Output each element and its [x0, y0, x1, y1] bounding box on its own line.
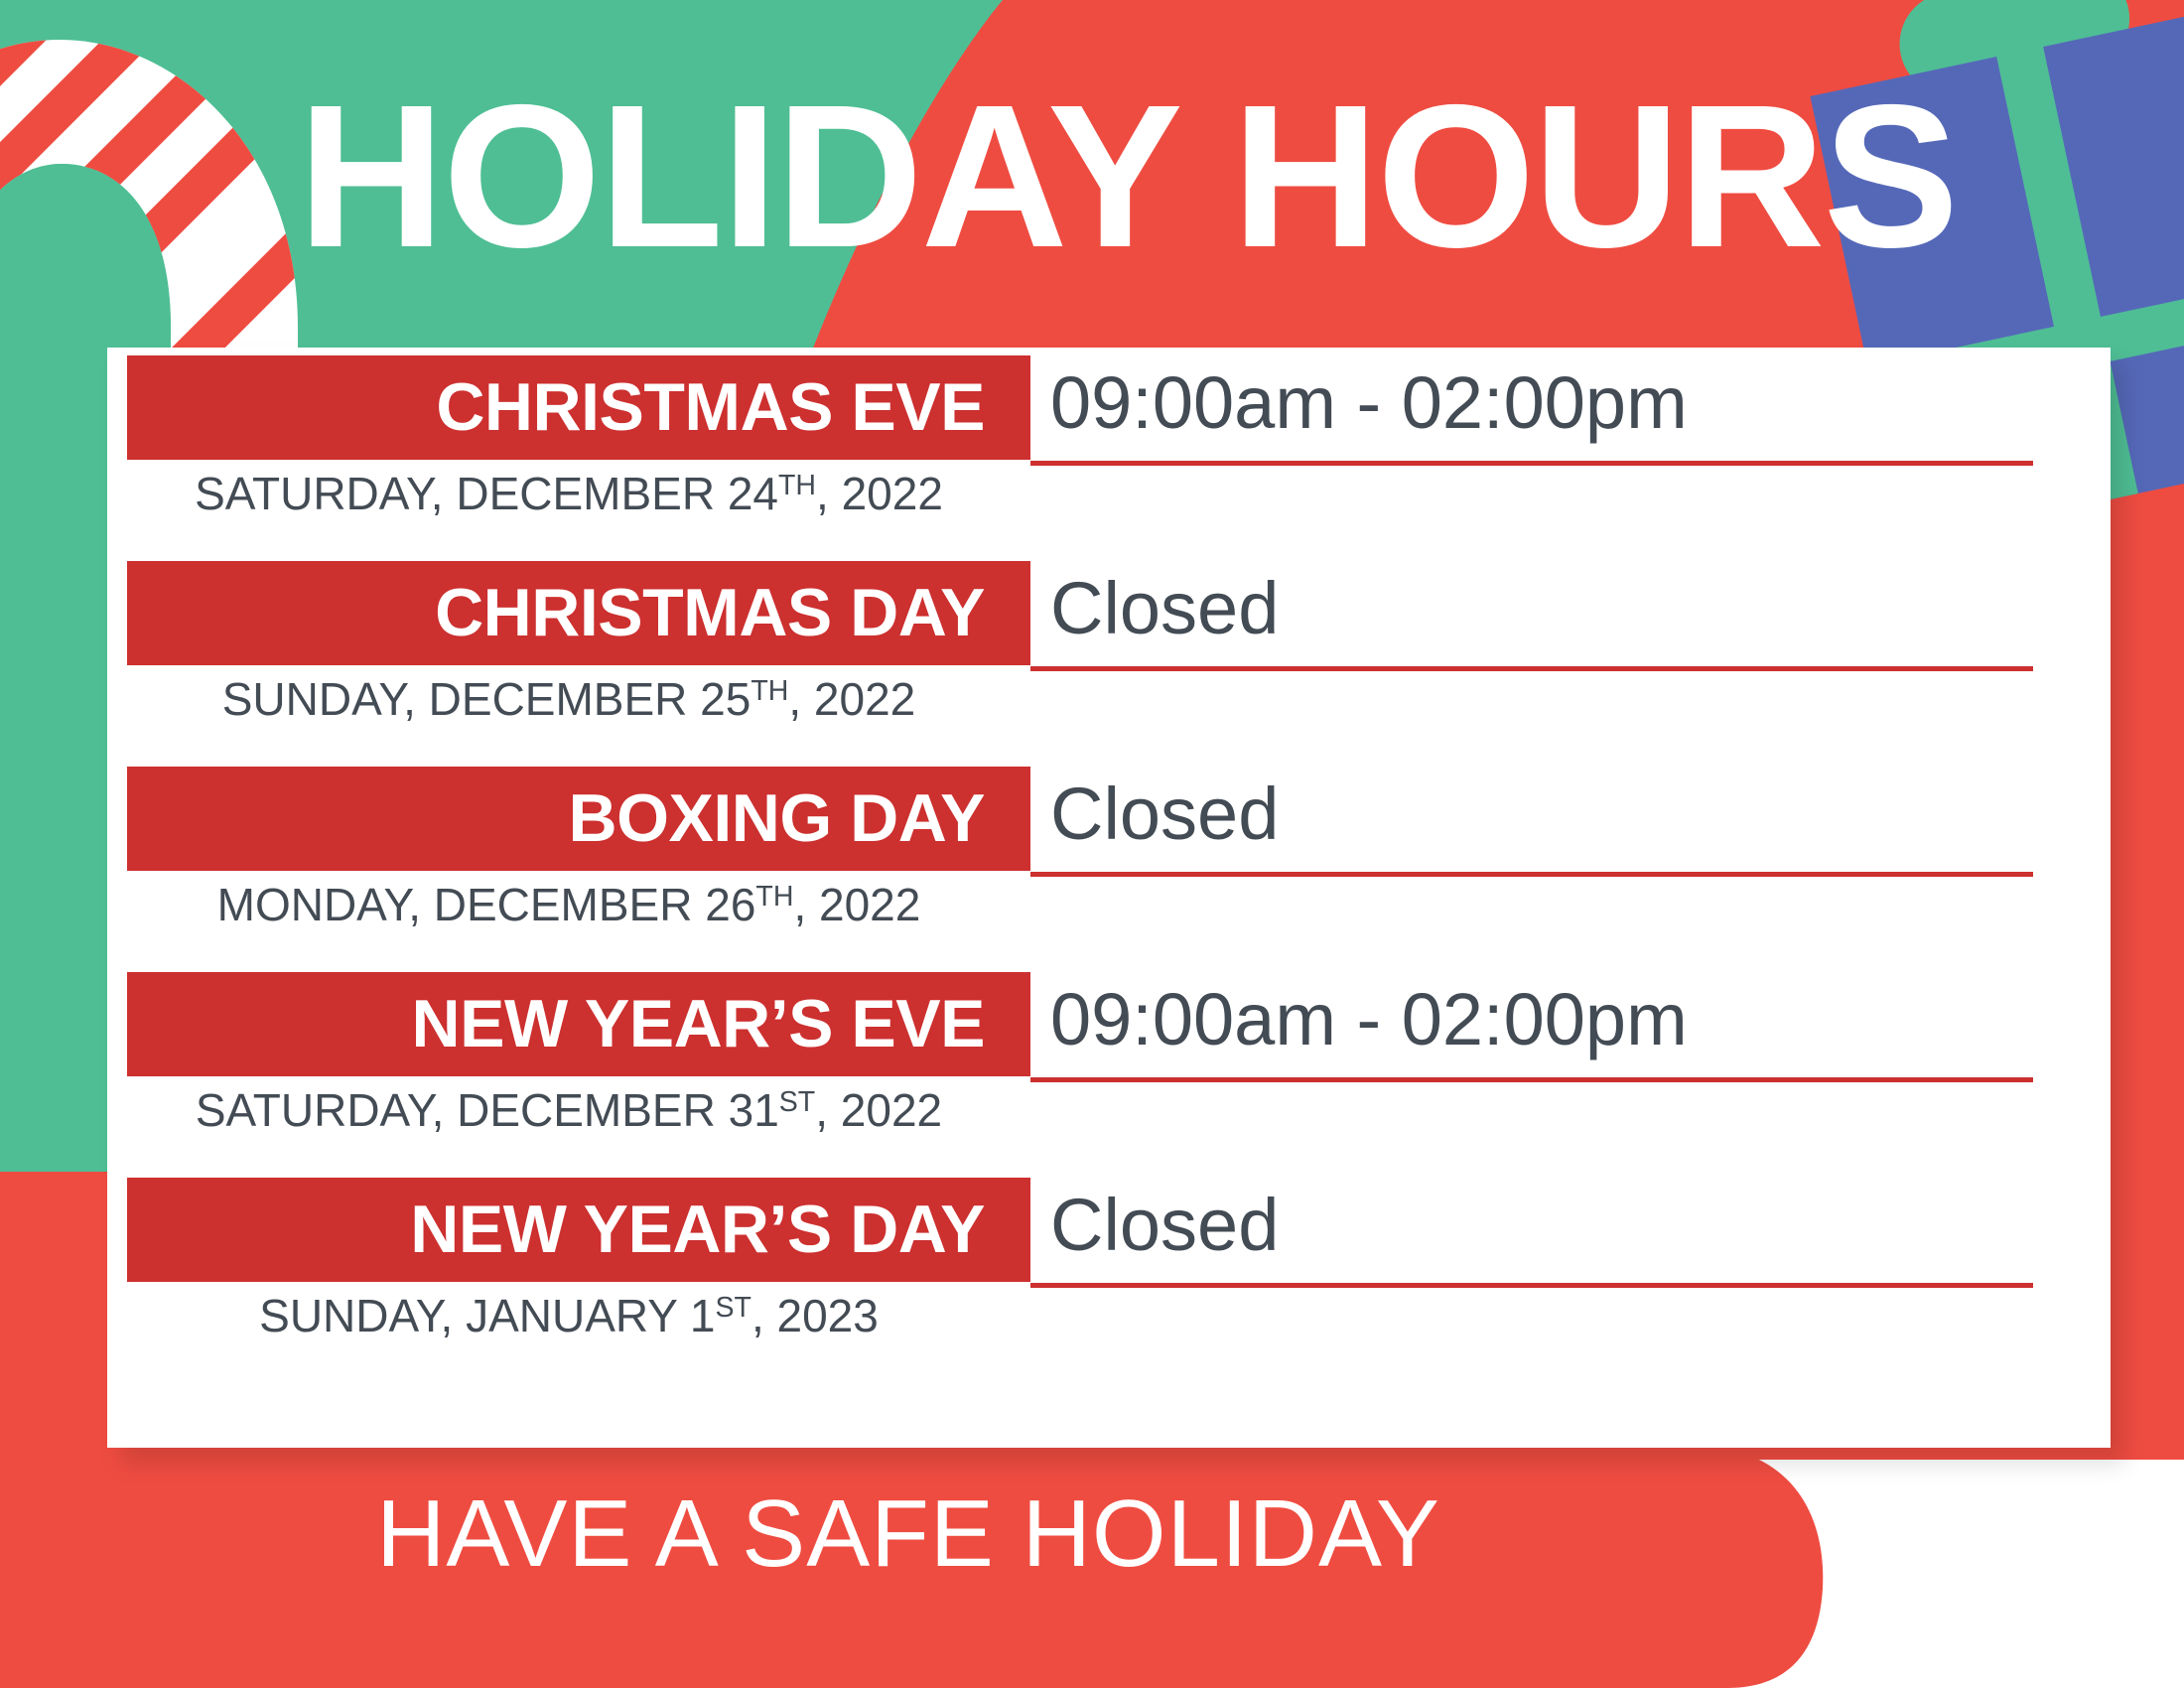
hours-value: Closed [1050, 769, 1279, 860]
holiday-date: SATURDAY, DECEMBER 24TH, 2022 [107, 467, 1030, 520]
holiday-label-bar: CHRISTMAS EVE [127, 355, 1030, 460]
hours-cell: 09:00am - 02:00pm [1030, 964, 2033, 1082]
hours-value: 09:00am - 02:00pm [1050, 974, 1688, 1065]
holiday-hours-poster: HOLIDAY HOURS CHRISTMAS EVE SATURDAY, DE… [0, 0, 2184, 1688]
hours-cell: Closed [1030, 759, 2033, 877]
holiday-date: SATURDAY, DECEMBER 31ST, 2022 [107, 1083, 1030, 1137]
hours-cell: Closed [1030, 553, 2033, 671]
table-row: NEW YEAR’S DAY SUNDAY, JANUARY 1ST, 2023… [107, 1170, 2111, 1383]
hours-cell: Closed [1030, 1170, 2033, 1288]
hours-value: Closed [1050, 563, 1279, 654]
table-row: CHRISTMAS EVE SATURDAY, DECEMBER 24TH, 2… [107, 348, 2111, 553]
date-suffix: , 2022 [816, 468, 943, 519]
date-prefix: SATURDAY, DECEMBER 24 [195, 468, 778, 519]
date-suffix: , 2022 [788, 673, 915, 725]
holiday-date: SUNDAY, DECEMBER 25TH, 2022 [107, 672, 1030, 726]
holiday-label-bar: NEW YEAR’S EVE [127, 972, 1030, 1076]
hours-value: 09:00am - 02:00pm [1050, 357, 1688, 449]
table-row: CHRISTMAS DAY SUNDAY, DECEMBER 25TH, 202… [107, 553, 2111, 759]
holiday-name: NEW YEAR’S DAY [127, 1192, 985, 1267]
holiday-date: SUNDAY, JANUARY 1ST, 2023 [107, 1289, 1030, 1342]
holiday-date: MONDAY, DECEMBER 26TH, 2022 [107, 878, 1030, 931]
date-suffix: , 2022 [793, 879, 920, 930]
date-prefix: SUNDAY, JANUARY 1 [259, 1290, 715, 1341]
table-row: NEW YEAR’S EVE SATURDAY, DECEMBER 31ST, … [107, 964, 2111, 1170]
holiday-label-bar: CHRISTMAS DAY [127, 561, 1030, 665]
date-ordinal: ST [779, 1086, 815, 1118]
date-prefix: SATURDAY, DECEMBER 31 [196, 1084, 779, 1136]
schedule-card: CHRISTMAS EVE SATURDAY, DECEMBER 24TH, 2… [107, 348, 2111, 1448]
date-prefix: SUNDAY, DECEMBER 25 [222, 673, 751, 725]
holiday-name: BOXING DAY [127, 780, 985, 856]
footer-message: HAVE A SAFE HOLIDAY [0, 1479, 1817, 1589]
date-suffix: , 2023 [751, 1290, 879, 1341]
date-ordinal: TH [755, 881, 793, 913]
date-suffix: , 2022 [815, 1084, 942, 1136]
page-title: HOLIDAY HOURS [298, 87, 1906, 266]
date-ordinal: TH [778, 470, 816, 501]
hours-value: Closed [1050, 1180, 1279, 1271]
date-ordinal: TH [751, 675, 788, 707]
date-prefix: MONDAY, DECEMBER 26 [217, 879, 756, 930]
holiday-label-bar: NEW YEAR’S DAY [127, 1178, 1030, 1282]
hours-cell: 09:00am - 02:00pm [1030, 348, 2033, 466]
holiday-name: NEW YEAR’S EVE [127, 986, 985, 1061]
holiday-label-bar: BOXING DAY [127, 767, 1030, 871]
date-ordinal: ST [715, 1292, 751, 1324]
schedule-rows: CHRISTMAS EVE SATURDAY, DECEMBER 24TH, 2… [107, 348, 2111, 1383]
table-row: BOXING DAY MONDAY, DECEMBER 26TH, 2022 C… [107, 759, 2111, 964]
holiday-name: CHRISTMAS EVE [127, 369, 985, 445]
holiday-name: CHRISTMAS DAY [127, 575, 985, 650]
